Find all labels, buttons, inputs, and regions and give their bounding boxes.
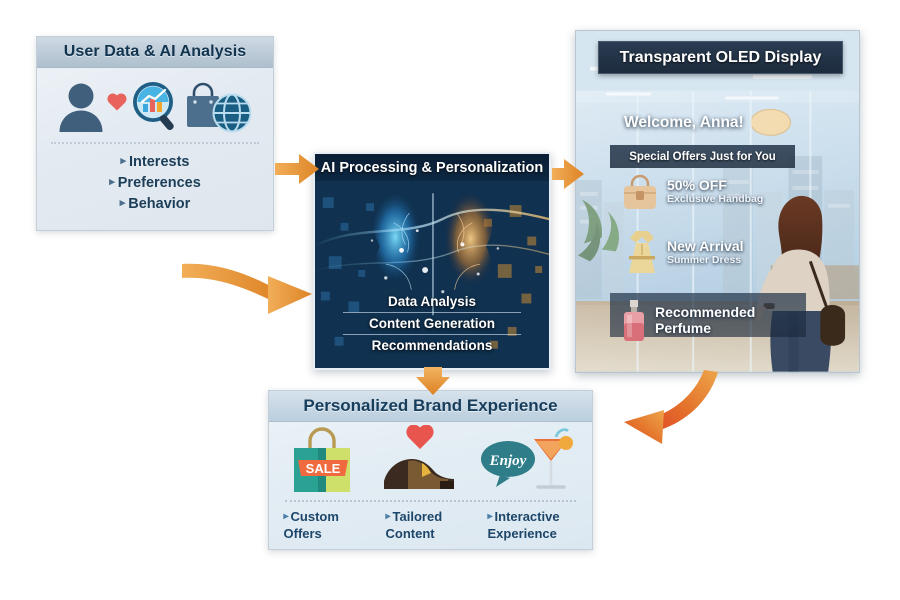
- panel-ai-processing-title: AI Processing & Personalization: [321, 160, 543, 176]
- dress-icon: [624, 227, 660, 279]
- user-data-divider: [51, 142, 259, 144]
- oled-offers-header: Special Offers Just for You: [610, 145, 795, 168]
- oled-offer-headline: New Arrival: [667, 239, 744, 255]
- ai-feature-item: Content Generation: [343, 312, 521, 334]
- bullet-dot-icon: ▸: [109, 176, 115, 188]
- arrow-oled-to-brand: [624, 370, 718, 444]
- handbag-icon: [620, 173, 660, 211]
- oled-offer-item-handbag[interactable]: 50% OFF Exclusive Handbag: [620, 173, 763, 211]
- enjoy-speech-bubble-icon: Enjoy: [478, 425, 574, 497]
- enjoy-badge-text: Enjoy: [488, 453, 526, 469]
- brand-bullet: ▸Custom Offers: [284, 508, 374, 542]
- user-data-icon-row: [37, 68, 273, 140]
- user-data-bullet-label: Behavior: [128, 196, 190, 212]
- ai-feature-item: Recommendations: [343, 334, 521, 356]
- user-data-bullet: ▸Behavior: [37, 193, 273, 214]
- panel-user-data-title: User Data & AI Analysis: [64, 43, 247, 61]
- user-data-bullet-label: Interests: [129, 154, 189, 170]
- bullet-dot-icon: ▸: [488, 511, 493, 522]
- user-data-bullet: ▸Interests: [37, 151, 273, 172]
- brand-bullet-label: Custom Offers: [284, 509, 339, 541]
- perfume-bottle-icon: [620, 299, 648, 343]
- ai-feature-list: Data Analysis Content Generation Recomme…: [343, 291, 521, 356]
- panel-brand-experience-header: Personalized Brand Experience: [269, 391, 592, 422]
- oled-offers-header-label: Special Offers Just for You: [629, 151, 776, 163]
- panel-user-data[interactable]: User Data & AI Analysis: [36, 36, 274, 231]
- brand-bullet-label: Tailored Content: [386, 509, 443, 541]
- panel-brand-experience-title: Personalized Brand Experience: [303, 396, 557, 416]
- panel-brand-experience[interactable]: Personalized Brand Experience SALE: [268, 390, 593, 550]
- oled-offer-text: New Arrival Summer Dress: [667, 239, 744, 266]
- brand-icon-row: SALE Enjoy: [269, 422, 592, 500]
- user-silhouette-icon: [58, 80, 104, 132]
- bullet-dot-icon: ▸: [284, 511, 289, 522]
- panel-ai-processing[interactable]: AI Processing & Personalization Data Ana…: [313, 152, 551, 370]
- oled-offer-subtext: Perfume: [655, 321, 755, 337]
- ai-feature-item: Data Analysis: [343, 291, 521, 312]
- arrow-userdata-to-ai-curved: [182, 264, 312, 314]
- oled-offer-text: 50% OFF Exclusive Handbag: [667, 178, 763, 205]
- globe-icon: [212, 93, 252, 133]
- panel-oled-display[interactable]: Transparent OLED Display Welcome, Anna! …: [575, 30, 860, 373]
- panel-ai-processing-header: AI Processing & Personalization: [315, 154, 549, 181]
- bullet-dot-icon: ▸: [386, 511, 391, 522]
- oled-offer-item-dress[interactable]: New Arrival Summer Dress: [624, 227, 744, 279]
- oled-offer-headline: Recommended: [655, 305, 755, 321]
- diagram-canvas: User Data & AI Analysis: [0, 0, 900, 600]
- sale-shopping-bag-icon: SALE: [288, 426, 362, 496]
- brand-bullet-label: Interactive Experience: [488, 509, 560, 541]
- oled-offer-subtext: Exclusive Handbag: [667, 194, 763, 206]
- heart-icon: [106, 91, 128, 113]
- bullet-dot-icon: ▸: [121, 155, 127, 167]
- panel-oled-display-title: Transparent OLED Display: [620, 49, 822, 67]
- high-heel-shoe-icon: [378, 425, 462, 497]
- panel-oled-display-header: Transparent OLED Display: [598, 41, 843, 74]
- sale-badge-text: SALE: [305, 461, 340, 476]
- brand-bullet: ▸Tailored Content: [386, 508, 476, 542]
- oled-offer-item-perfume[interactable]: Recommended Perfume: [620, 299, 755, 343]
- brand-bullet-list: ▸Custom Offers ▸Tailored Content ▸Intera…: [269, 502, 592, 542]
- oled-welcome-message: Welcome, Anna!: [624, 114, 744, 132]
- oled-offer-subtext: Summer Dress: [667, 255, 744, 267]
- panel-user-data-header: User Data & AI Analysis: [37, 37, 273, 68]
- user-data-bullet-label: Preferences: [118, 175, 201, 191]
- user-data-bullet-list: ▸Interests ▸Preferences ▸Behavior: [37, 144, 273, 214]
- bullet-dot-icon: ▸: [120, 197, 126, 209]
- chart-magnifier-icon: [130, 80, 180, 132]
- oled-offer-headline: 50% OFF: [667, 178, 763, 194]
- brand-bullet: ▸Interactive Experience: [488, 508, 578, 542]
- user-data-bullet: ▸Preferences: [37, 172, 273, 193]
- oled-offer-text: Recommended Perfume: [655, 305, 755, 336]
